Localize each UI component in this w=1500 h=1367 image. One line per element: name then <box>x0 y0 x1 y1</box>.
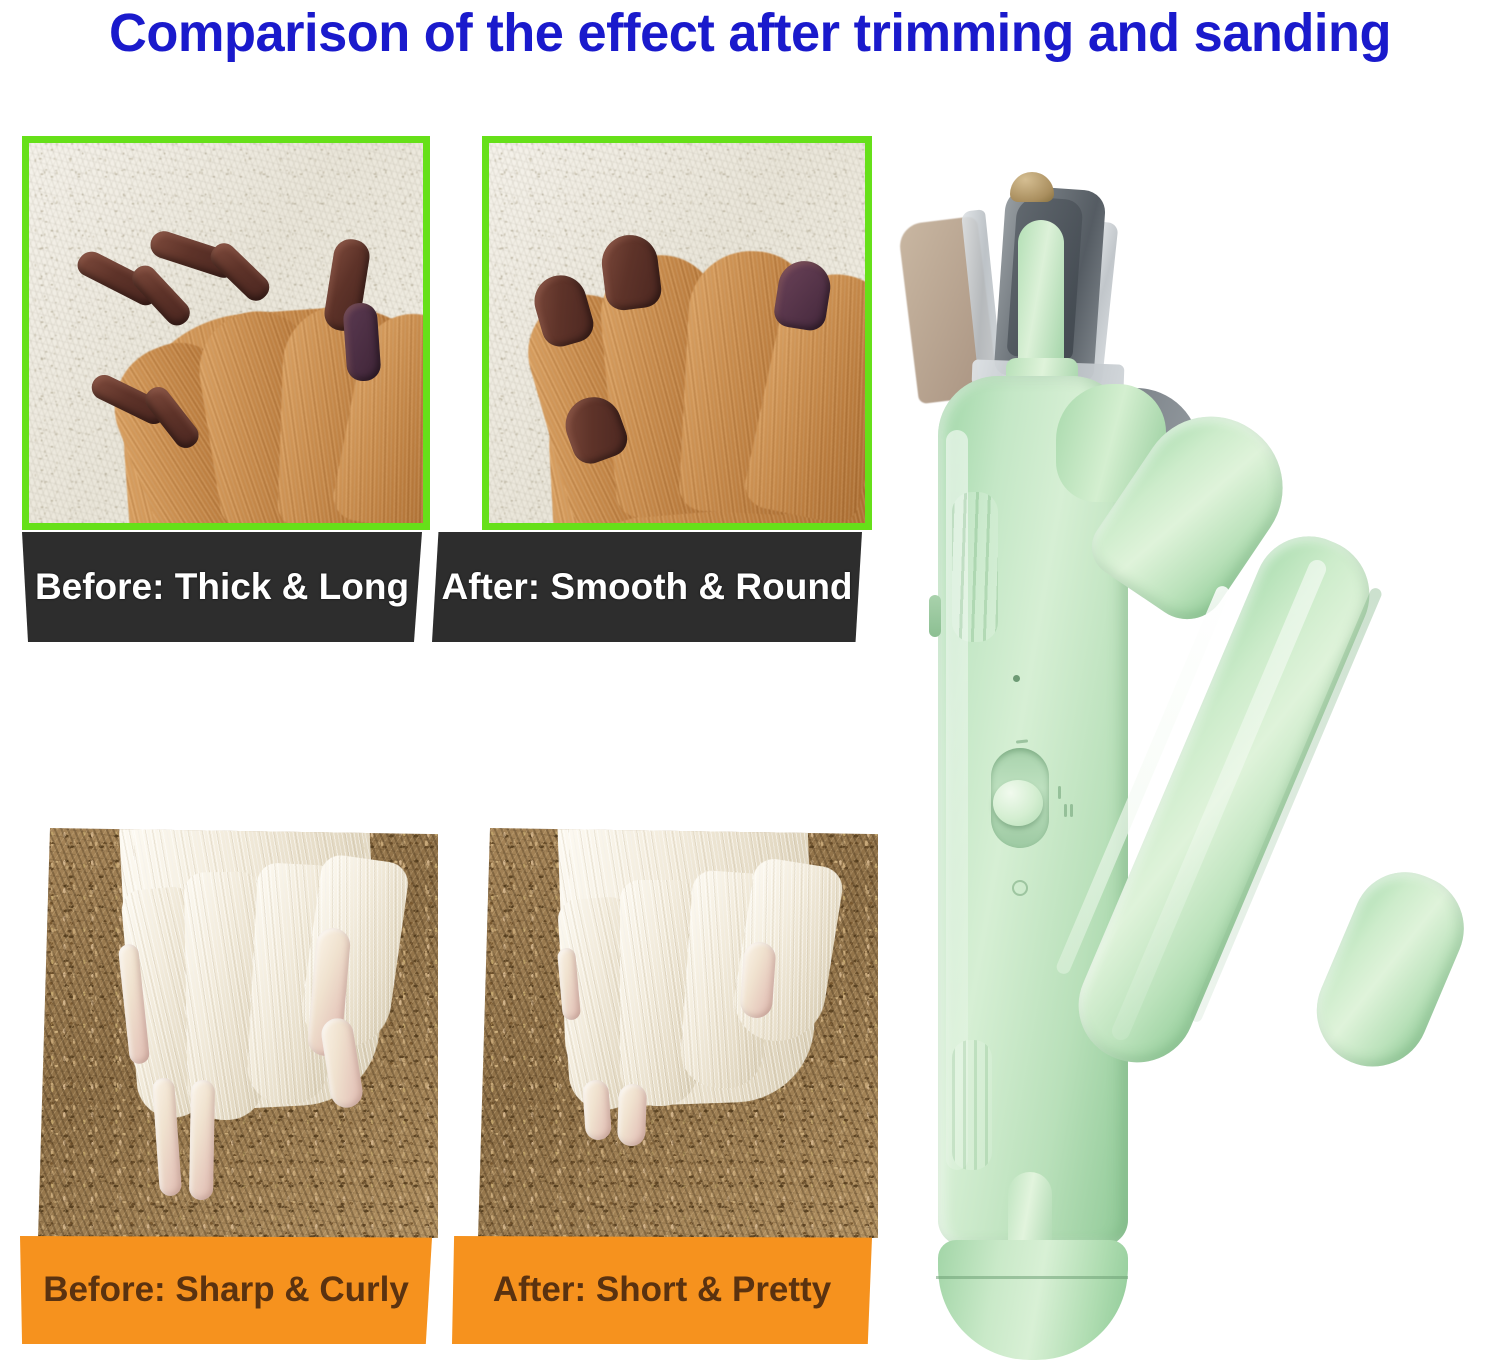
grinding-stone-tip-icon <box>1010 172 1054 202</box>
photo-frame-top-right <box>482 136 872 530</box>
led-indicator-icon <box>1013 675 1020 682</box>
speed-mark-2 <box>1064 804 1067 817</box>
photo-before-thick-long <box>29 143 423 523</box>
caption-bottom-left: Before: Sharp & Curly <box>20 1236 432 1344</box>
battery-cap-icon[interactable] <box>938 1240 1128 1360</box>
caption-text: After: Short & Pretty <box>493 1270 831 1310</box>
speed-mark-1 <box>1058 786 1061 799</box>
caption-text: Before: Thick & Long <box>35 566 409 608</box>
page-title: Comparison of the effect after trimming … <box>23 2 1478 64</box>
photo-frame-top-left <box>22 136 430 530</box>
charging-port-icon <box>929 595 941 637</box>
photo-frame-bottom-left <box>38 828 438 1238</box>
nail-curly-3 <box>189 1080 215 1200</box>
caption-top-right: After: Smooth & Round <box>432 532 862 642</box>
caption-bottom-right: After: Short & Pretty <box>452 1236 872 1344</box>
product-comparison-image: Comparison of the effect after trimming … <box>0 0 1500 1367</box>
caption-top-left: Before: Thick & Long <box>22 532 422 642</box>
nail-short-2 <box>582 1079 612 1141</box>
photo-after-short-pretty <box>478 828 878 1238</box>
nail-short-4 <box>739 941 776 1019</box>
power-slider-knob[interactable] <box>993 780 1043 826</box>
caption-text: Before: Sharp & Curly <box>43 1270 409 1310</box>
grip-ridges-lower-icon <box>952 1040 992 1170</box>
power-symbol-icon <box>1012 880 1028 896</box>
photo-frame-bottom-right <box>478 828 878 1238</box>
caption-text: After: Smooth & Round <box>441 566 852 608</box>
lever-tip-icon <box>1299 856 1480 1084</box>
nail-short-3 <box>617 1084 647 1147</box>
product-image-nail-grinder <box>880 140 1500 1355</box>
photo-after-smooth-round <box>489 143 865 523</box>
battery-cap-seam <box>936 1276 1128 1279</box>
grinder-shaft-icon <box>1018 220 1064 370</box>
nail-long-4b <box>342 302 381 382</box>
speed-mark-2b <box>1070 804 1073 817</box>
grip-ridges-icon <box>952 492 998 642</box>
photo-before-sharp-curly <box>38 828 438 1238</box>
